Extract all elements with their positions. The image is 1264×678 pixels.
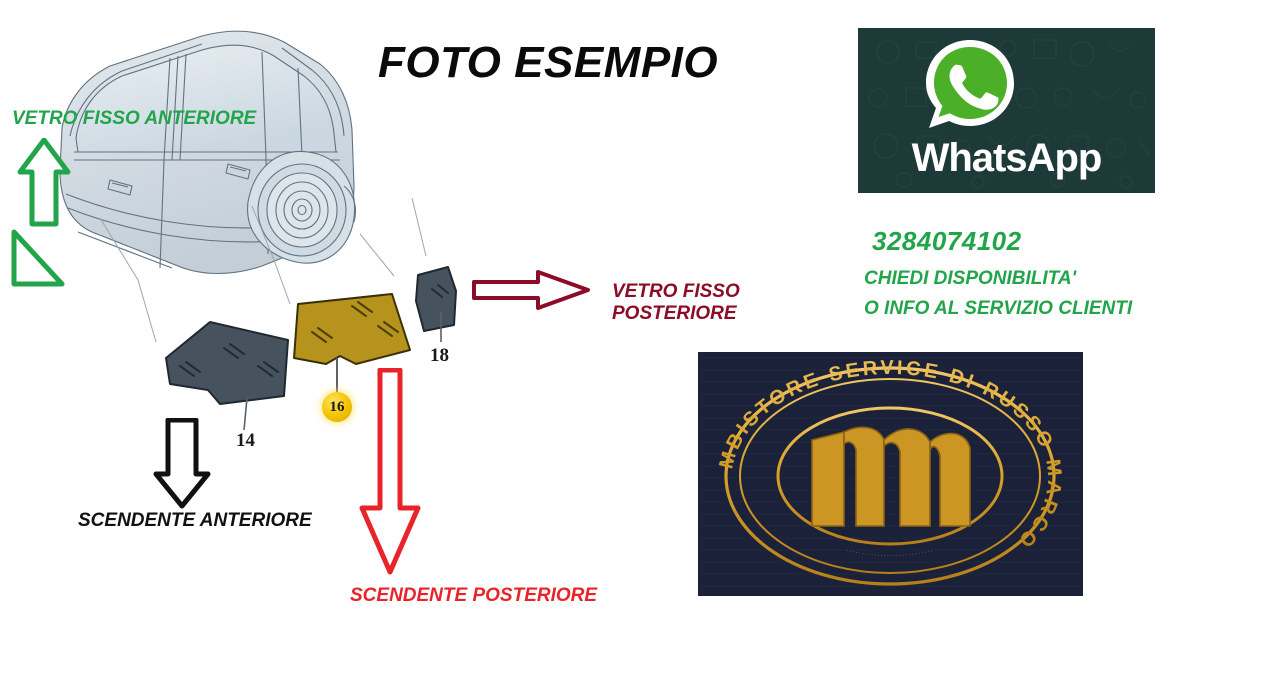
whatsapp-logo-icon [920, 36, 1020, 136]
part-18-leader [434, 312, 448, 344]
part-14-leader [238, 398, 252, 432]
whatsapp-wordmark: WhatsApp [858, 136, 1155, 181]
black-down-arrow-icon [150, 418, 214, 510]
part-14-front-drop-glass [162, 318, 292, 418]
phone-number[interactable]: 3284074102 [872, 226, 1022, 257]
part-number-16-badge: 16 [322, 392, 352, 422]
label-scendente-posteriore: SCENDENTE POSTERIORE [350, 585, 597, 607]
label-vetro-fisso-anteriore: VETRO FISSO ANTERIORE [12, 108, 256, 130]
darkred-right-arrow-icon [472, 270, 592, 310]
part-number-14: 14 [236, 430, 255, 452]
label-scendente-anteriore: SCENDENTE ANTERIORE [78, 510, 312, 532]
contact-line-availability: CHIEDI DISPONIBILITA' [864, 268, 1076, 290]
page-title: FOTO ESEMPIO [378, 38, 798, 88]
whatsapp-banner[interactable]: WhatsApp [858, 28, 1155, 193]
label-vetro-fisso-posteriore: VETRO FISSO POSTERIORE [612, 281, 740, 326]
brand-logo-photo: MRICAMBISTORE SERVICE DI RUSSO MARCO ...… [698, 352, 1083, 596]
part-number-18: 18 [430, 345, 449, 367]
contact-line-customer-service: O INFO AL SERVIZIO CLIENTI [864, 298, 1132, 320]
red-down-arrow-icon [358, 368, 422, 578]
brand-logo-artwork: MRICAMBISTORE SERVICE DI RUSSO MARCO ...… [698, 352, 1083, 596]
green-up-arrow-icon [16, 138, 78, 228]
green-triangle-icon [8, 228, 68, 290]
